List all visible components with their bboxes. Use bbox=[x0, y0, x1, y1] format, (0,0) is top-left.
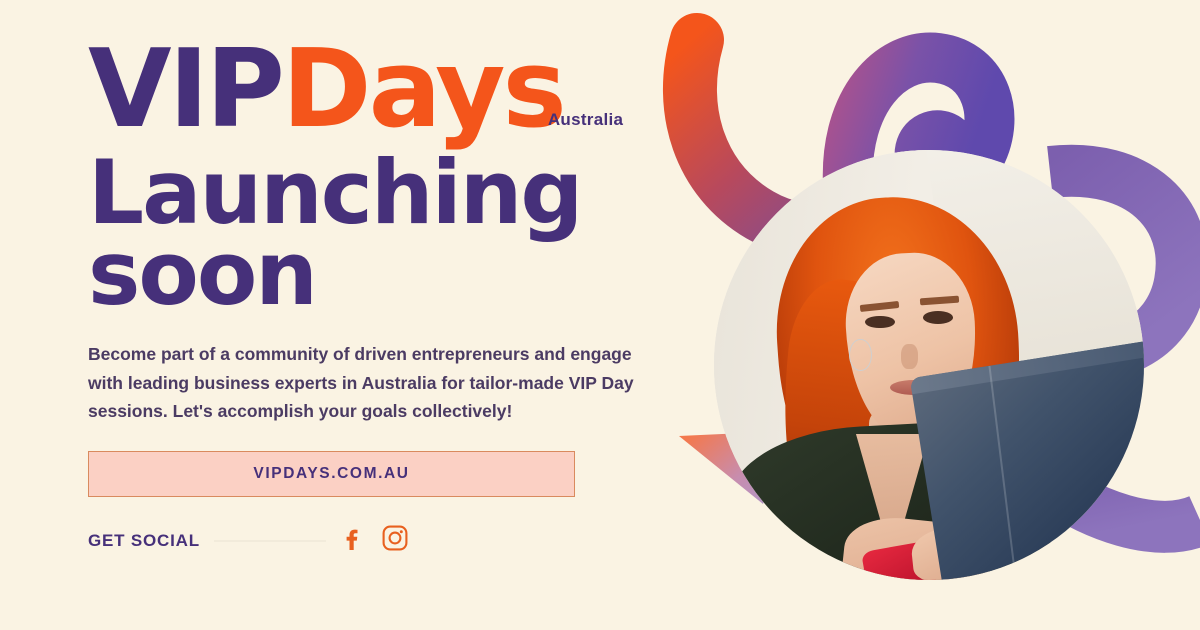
logo-text-vip: VIP bbox=[88, 46, 282, 135]
logo-text-days: Days bbox=[282, 46, 564, 135]
get-social-label: GET SOCIAL bbox=[88, 531, 200, 551]
logo-text-region: Australia bbox=[548, 113, 623, 127]
brand-logo: VIP Days Australia bbox=[88, 46, 688, 135]
page-title: Launching soon bbox=[88, 153, 688, 315]
social-icon-group bbox=[340, 525, 408, 556]
headline-line-2: soon bbox=[88, 222, 316, 325]
social-section: GET SOCIAL bbox=[88, 525, 408, 556]
website-cta-button[interactable]: VIPDAYS.COM.AU bbox=[88, 451, 575, 497]
facebook-icon[interactable] bbox=[340, 525, 362, 556]
content-column: VIP Days Australia Launching soon Become… bbox=[88, 46, 688, 556]
photo-illustration bbox=[714, 150, 1144, 580]
hero-description: Become part of a community of driven ent… bbox=[88, 340, 658, 425]
instagram-icon[interactable] bbox=[382, 525, 408, 556]
divider bbox=[214, 540, 326, 542]
hero-photo bbox=[714, 150, 1144, 580]
poster-canvas: VIP Days Australia Launching soon Become… bbox=[0, 0, 1200, 630]
